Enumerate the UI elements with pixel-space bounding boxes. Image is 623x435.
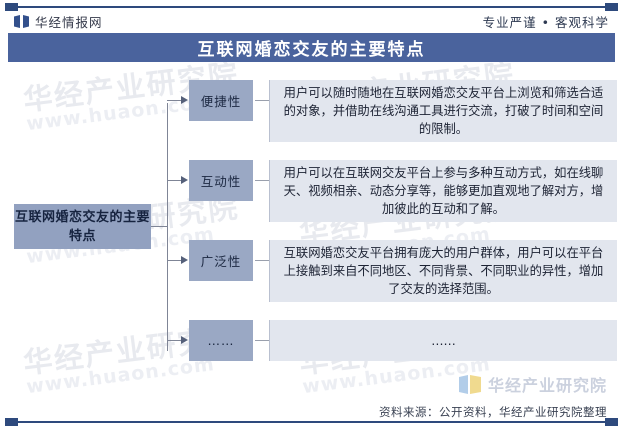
- arrow-right-icon: [181, 256, 188, 264]
- branch-description: 互联网婚恋交友平台拥有庞大的用户群体，用户可以在平台上接触到来自不同地区、不同背…: [269, 240, 617, 302]
- branch-label: 广泛性: [189, 240, 253, 281]
- root-node: 互联网婚恋交友的主要特点: [14, 204, 151, 249]
- connector-branch: [167, 100, 182, 101]
- branch-description: 用户可以随时随地在互联网婚恋交友平台上浏览和筛选合适的对象，并借助在线沟通工具进…: [269, 80, 617, 142]
- connector-middle: [255, 340, 269, 341]
- connector-middle: [255, 180, 269, 181]
- connector-branch: [167, 180, 182, 181]
- branch-label: 互动性: [189, 160, 253, 201]
- arrow-right-icon: [181, 96, 188, 104]
- connector-trunk: [167, 103, 168, 351]
- brand: 华经情报网: [14, 12, 103, 31]
- title-bar: 互联网婚恋交友的主要特点: [8, 33, 615, 62]
- source-note: 资料来源：公开资料，华经产业研究院整理: [379, 404, 607, 420]
- book-logo-icon: [14, 15, 29, 28]
- connector-branch: [167, 340, 182, 341]
- top-divider: [8, 6, 615, 8]
- header-slogan: 专业严谨 • 客观科学: [483, 12, 609, 31]
- bottom-divider: [8, 421, 615, 423]
- page-header: 华经情报网 专业严谨 • 客观科学: [0, 10, 623, 33]
- connector-middle: [255, 100, 269, 101]
- arrow-right-icon: [181, 336, 188, 344]
- connector-branch: [167, 260, 182, 261]
- connector-middle: [255, 260, 269, 261]
- branch-description: 用户可以在互联网交友平台上参与多种互动方式，如在线聊天、视频相亲、动态分享等，能…: [269, 160, 617, 222]
- page-title: 互联网婚恋交友的主要特点: [198, 35, 426, 60]
- branch-label: 便捷性: [189, 80, 253, 121]
- branch-label: ……: [189, 320, 253, 361]
- branch-description: ……: [269, 320, 617, 361]
- connector-root-stub: [151, 226, 168, 227]
- infographic-page: 华经产业研究院 www.huaon.com 华经产业研究院 www.huaon.…: [0, 0, 623, 435]
- brand-name: 华经情报网: [35, 12, 103, 31]
- diagram-body: 互联网婚恋交友的主要特点 便捷性 用户可以随时随地在互联网婚恋交友平台上浏览和筛…: [0, 62, 623, 435]
- arrow-right-icon: [181, 176, 188, 184]
